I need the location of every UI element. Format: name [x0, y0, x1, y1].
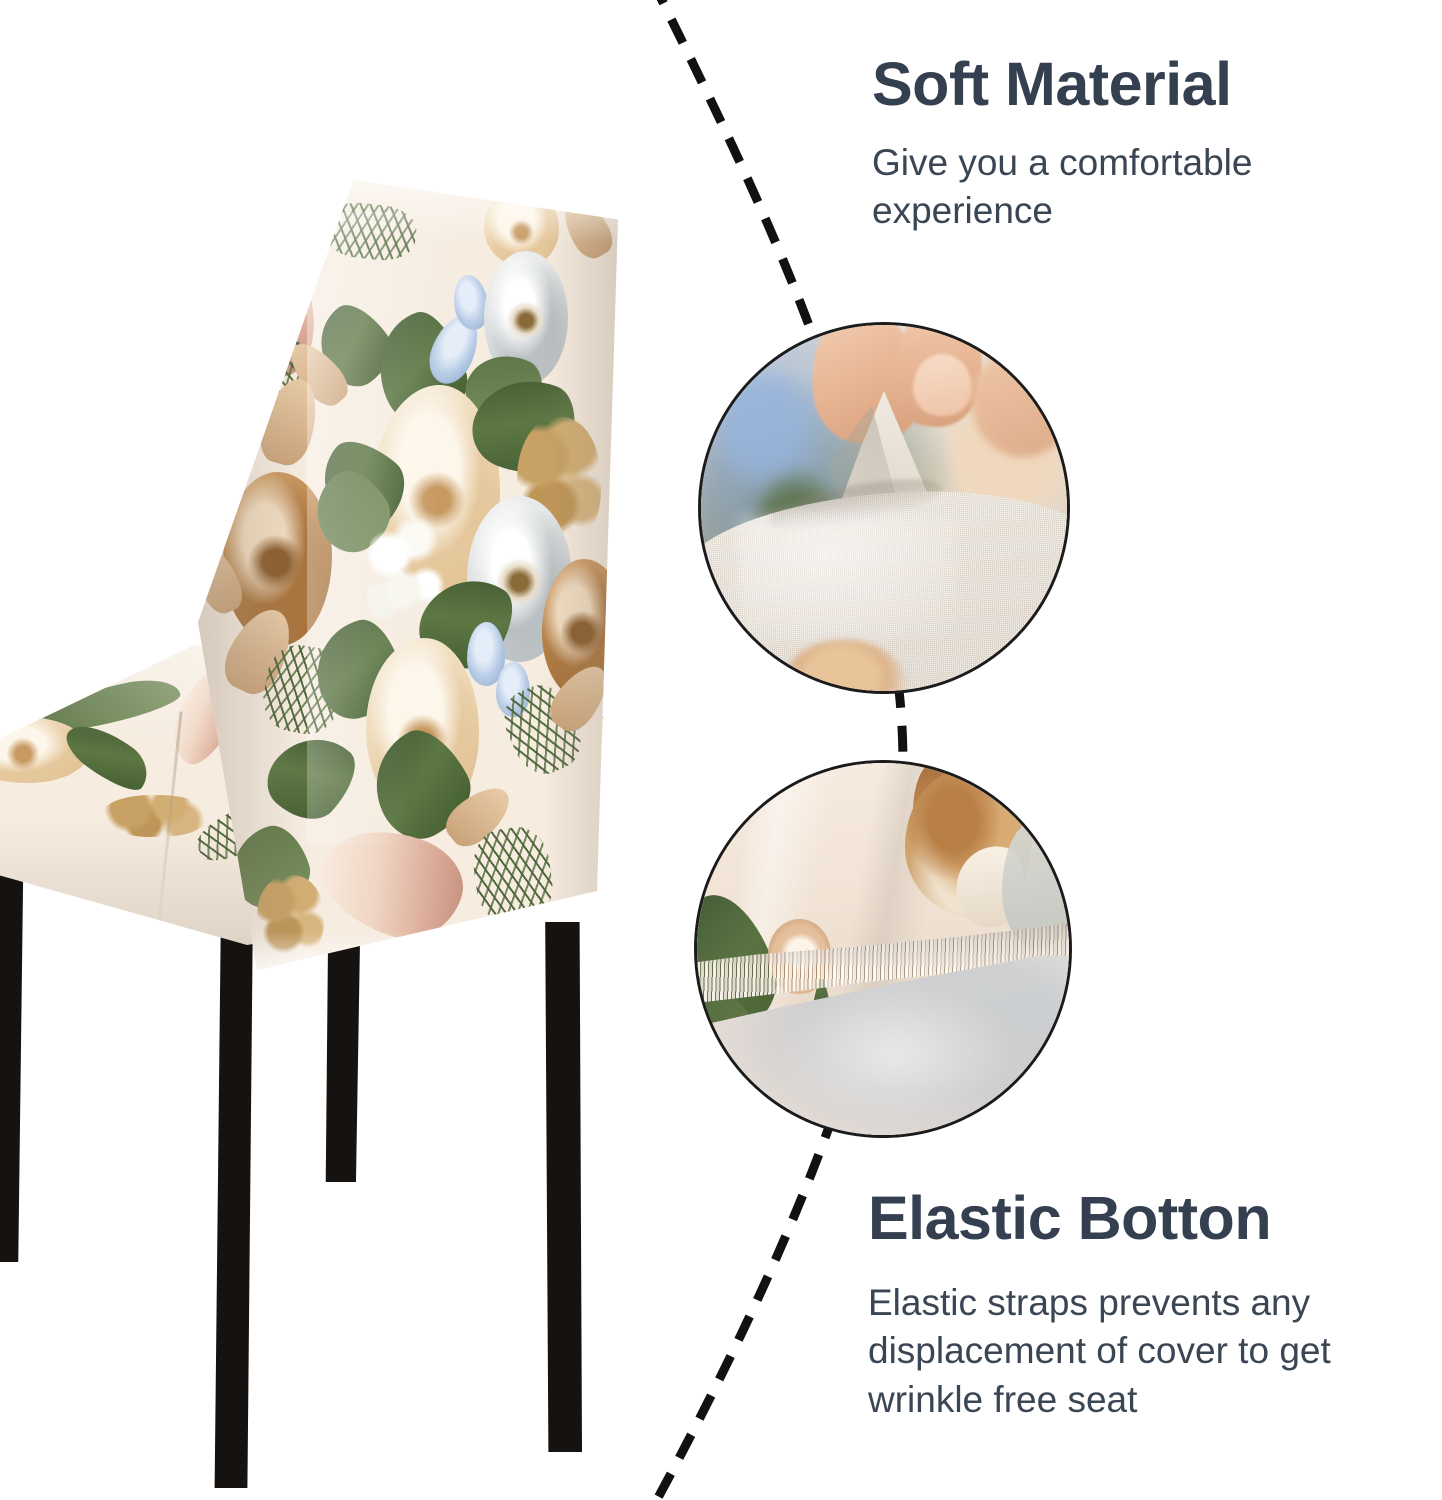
flower-bud-icon: [194, 354, 228, 417]
feature-title: Elastic Botton: [868, 1186, 1428, 1251]
chair-back-cover: [198, 180, 618, 970]
feature-description: Give you a comfortable experience: [872, 139, 1412, 237]
feature-elastic-bottom: Elastic Botton Elastic straps prevents a…: [868, 1186, 1428, 1425]
infographic-canvas: Soft Material Give you a comfortable exp…: [0, 0, 1442, 1500]
flower-bud-icon: [554, 191, 618, 265]
feature-title: Soft Material: [872, 52, 1412, 117]
anemone-flower-icon: [181, 401, 240, 504]
chair-leg-back-right: [542, 922, 582, 1452]
product-chair-image: [0, 180, 690, 1320]
lining-highlight: [771, 979, 1017, 1128]
chair-leg-back-left: [213, 903, 253, 1488]
feature-description: Elastic straps prevents any displacement…: [868, 1279, 1428, 1425]
hand-knuckle: [972, 347, 1070, 457]
flower-cluster-icon: [257, 875, 324, 962]
elastic-hem-detail: [694, 760, 1072, 1138]
sprig-icon: [321, 199, 419, 264]
fingernail: [913, 354, 972, 416]
fabric-stretch-detail: [698, 322, 1070, 694]
fabric-highlight: [738, 515, 958, 639]
feature-soft-material: Soft Material Give you a comfortable exp…: [872, 52, 1412, 236]
leaf-icon: [254, 719, 368, 834]
flower-cluster-icon: [102, 795, 208, 837]
sprig-icon: [469, 823, 557, 927]
